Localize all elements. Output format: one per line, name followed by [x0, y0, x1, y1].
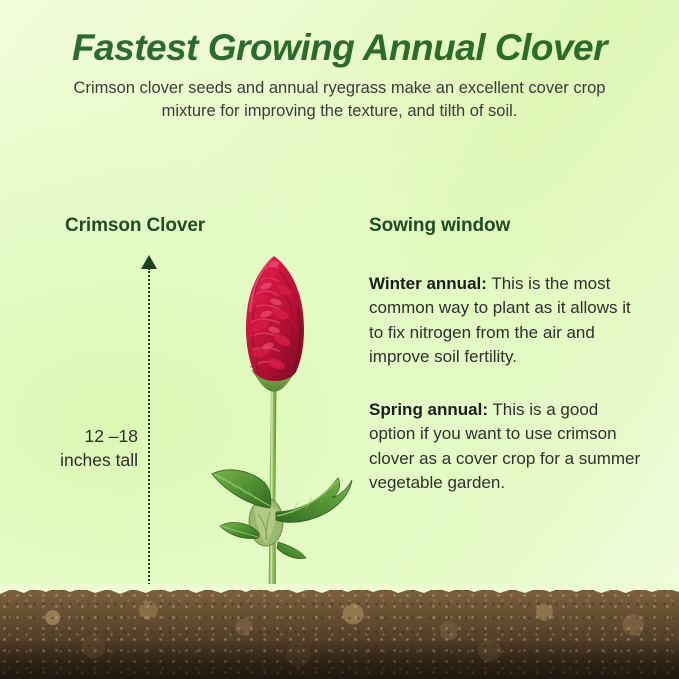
crimson-clover-bloom: [246, 256, 304, 381]
sowing-item-winter-annual: Winter annual: This is the most common w…: [369, 272, 647, 369]
section-heading-crimson-clover: Crimson Clover: [65, 215, 205, 237]
soil-band: [0, 584, 679, 679]
spring-annual-label: Spring annual:: [369, 400, 488, 419]
page-title: Fastest Growing Annual Clover: [0, 0, 679, 68]
header-block: Fastest Growing Annual Clover Crimson cl…: [0, 0, 679, 124]
clover-leaf-lower-right: [277, 542, 306, 559]
sowing-item-spring-annual: Spring annual: This is a good option if …: [369, 398, 647, 495]
crimson-clover-plant-illustration: [192, 250, 357, 602]
measurement-label: 12 –18 inches tall: [8, 424, 138, 472]
page-subtitle: Crimson clover seeds and annual ryegrass…: [60, 68, 620, 124]
soil-shadow-gradient: [0, 640, 679, 679]
measurement-dotted-line: [148, 268, 150, 592]
measurement-label-line1: 12 –18: [8, 424, 138, 448]
infographic-canvas: Fastest Growing Annual Clover Crimson cl…: [0, 0, 679, 679]
measurement-label-line2: inches tall: [8, 448, 138, 472]
winter-annual-label: Winter annual:: [369, 274, 487, 293]
soil-texture: [0, 590, 679, 679]
clover-leaf-right: [276, 478, 352, 522]
section-heading-sowing-window: Sowing window: [369, 215, 510, 237]
measurement-arrow-up-icon: [141, 255, 157, 269]
clover-leaf-left: [212, 470, 271, 508]
plant-stem-group: [269, 378, 277, 602]
